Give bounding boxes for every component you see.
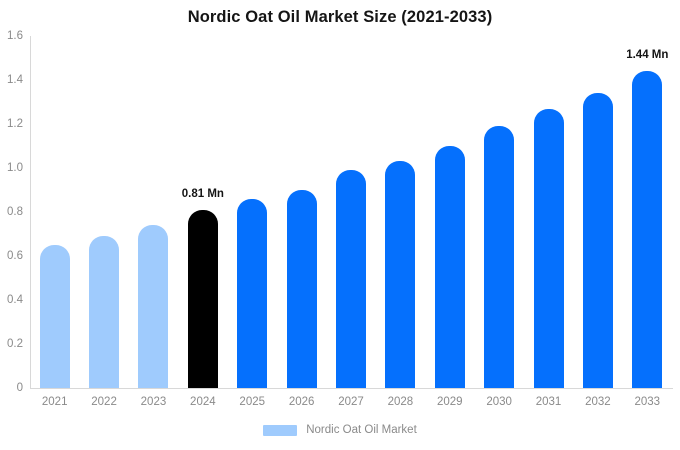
x-axis-tick-label: 2023 — [141, 396, 167, 408]
x-axis-tick-label: 2021 — [42, 396, 68, 408]
legend-swatch — [263, 425, 297, 436]
chart-legend: Nordic Oat Oil Market — [0, 424, 680, 436]
bar-2028[interactable] — [385, 161, 415, 388]
legend-label: Nordic Oat Oil Market — [306, 424, 417, 436]
x-axis-line — [30, 388, 673, 389]
bar-2030[interactable] — [484, 126, 514, 388]
x-axis-tick-label: 2033 — [635, 396, 661, 408]
y-axis-tick-label: 1.4 — [7, 74, 23, 86]
x-axis-tick-label: 2027 — [338, 396, 364, 408]
bar-2029[interactable] — [435, 146, 465, 388]
x-axis-tick-label: 2032 — [585, 396, 611, 408]
plot-area: 00.20.40.60.81.01.21.41.6 — [30, 36, 672, 388]
x-axis-tick-label: 2029 — [437, 396, 463, 408]
y-axis-tick-label: 1.6 — [7, 30, 23, 42]
y-axis-tick-label: 0.8 — [7, 206, 23, 218]
x-axis-tick-label: 2030 — [486, 396, 512, 408]
y-axis-tick-label: 1.2 — [7, 118, 23, 130]
x-axis-tick-label: 2031 — [536, 396, 562, 408]
x-axis-tick-label: 2028 — [388, 396, 414, 408]
bar-2032[interactable] — [583, 93, 613, 388]
bar-2022[interactable] — [89, 236, 119, 388]
x-axis-tick-label: 2024 — [190, 396, 216, 408]
bar-value-label: 1.44 Mn — [626, 49, 668, 61]
bar-2021[interactable] — [40, 245, 70, 388]
chart-title: Nordic Oat Oil Market Size (2021-2033) — [0, 8, 680, 27]
bar-2031[interactable] — [534, 109, 564, 388]
x-axis-tick-label: 2022 — [91, 396, 117, 408]
x-axis-tick-label: 2026 — [289, 396, 315, 408]
bar-2023[interactable] — [138, 225, 168, 388]
chart-container: Nordic Oat Oil Market Size (2021-2033) 0… — [0, 0, 680, 450]
y-axis-tick-label: 0.4 — [7, 294, 23, 306]
y-axis-tick-label: 0 — [17, 382, 23, 394]
y-axis-tick-label: 0.6 — [7, 250, 23, 262]
bar-2027[interactable] — [336, 170, 366, 388]
bar-2024[interactable] — [188, 210, 218, 388]
bar-2033[interactable] — [632, 71, 662, 388]
bar-2026[interactable] — [287, 190, 317, 388]
bar-2025[interactable] — [237, 199, 267, 388]
x-axis-tick-label: 2025 — [239, 396, 265, 408]
y-axis-tick-label: 0.2 — [7, 338, 23, 350]
y-axis-tick-label: 1.0 — [7, 162, 23, 174]
bar-value-label: 0.81 Mn — [182, 188, 224, 200]
